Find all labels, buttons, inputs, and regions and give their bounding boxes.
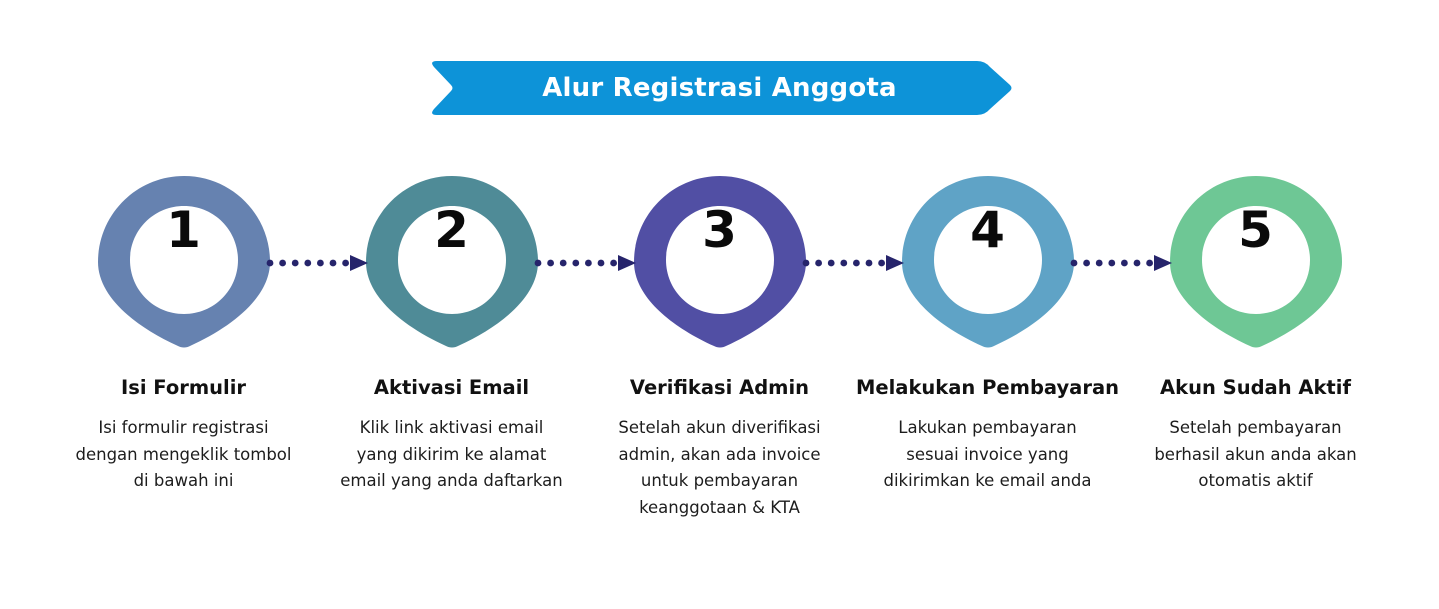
step-description-line: email yang anda daftarkan [314,468,589,494]
banner-container: Alur Registrasi Anggota [0,58,1439,120]
step-description-line: berhasil akun anda akan [1118,442,1393,468]
banner-title: Alur Registrasi Anggota [425,58,1015,118]
step-number-2: 2 [366,176,538,284]
step-description-line: admin, akan ada invoice [582,442,857,468]
step-description-3: Setelah akun diverifikasiadmin, akan ada… [582,415,857,521]
connector-arrow-2-to-3 [532,252,640,274]
step-number-4: 4 [902,176,1074,284]
connector-arrow-4-to-5 [1068,252,1176,274]
step-item-4: 4 Melakukan Pembayaran Lakukan pembayara… [854,176,1122,495]
connector-arrow-3-to-4 [800,252,908,274]
step-description-line: dengan mengeklik tombol [46,442,321,468]
dotted-arrow-right-icon [800,252,908,274]
step-number-3: 3 [634,176,806,284]
step-title-3: Verifikasi Admin [630,376,809,399]
dotted-arrow-right-icon [532,252,640,274]
steps-row: 1 Isi Formulir Isi formulir registraside… [0,176,1439,521]
step-description-line: sesuai invoice yang [850,442,1125,468]
step-pin-2: 2 [366,176,538,348]
step-description-line: untuk pembayaran [582,468,857,494]
step-description-line: di bawah ini [46,468,321,494]
step-description-line: Isi formulir registrasi [46,415,321,441]
step-description-line: dikirimkan ke email anda [850,468,1125,494]
step-pin-4: 4 [902,176,1074,348]
step-description-line: Klik link aktivasi email [314,415,589,441]
step-description-5: Setelah pembayaranberhasil akun anda aka… [1118,415,1393,494]
banner: Alur Registrasi Anggota [425,58,1015,118]
step-description-4: Lakukan pembayaransesuai invoice yangdik… [850,415,1125,494]
step-title-4: Melakukan Pembayaran [856,376,1119,399]
step-number-5: 5 [1170,176,1342,284]
step-description-line: yang dikirim ke alamat [314,442,589,468]
step-pin-3: 3 [634,176,806,348]
step-description-2: Klik link aktivasi emailyang dikirim ke … [314,415,589,494]
step-title-2: Aktivasi Email [374,376,529,399]
dotted-arrow-right-icon [1068,252,1176,274]
step-description-1: Isi formulir registrasidengan mengeklik … [46,415,321,494]
connector-arrow-1-to-2 [264,252,372,274]
dotted-arrow-right-icon [264,252,372,274]
step-pin-1: 1 [98,176,270,348]
step-item-5: 5 Akun Sudah Aktif Setelah pembayaranber… [1122,176,1390,495]
step-description-line: keanggotaan & KTA [582,495,857,521]
step-item-2: 2 Aktivasi Email Klik link aktivasi emai… [318,176,586,495]
step-description-line: Lakukan pembayaran [850,415,1125,441]
step-item-3: 3 Verifikasi Admin Setelah akun diverifi… [586,176,854,521]
step-number-1: 1 [98,176,270,284]
step-title-1: Isi Formulir [121,376,246,399]
step-description-line: Setelah akun diverifikasi [582,415,857,441]
step-item-1: 1 Isi Formulir Isi formulir registraside… [50,176,318,495]
step-description-line: otomatis aktif [1118,468,1393,494]
step-description-line: Setelah pembayaran [1118,415,1393,441]
step-title-5: Akun Sudah Aktif [1160,376,1351,399]
step-pin-5: 5 [1170,176,1342,348]
